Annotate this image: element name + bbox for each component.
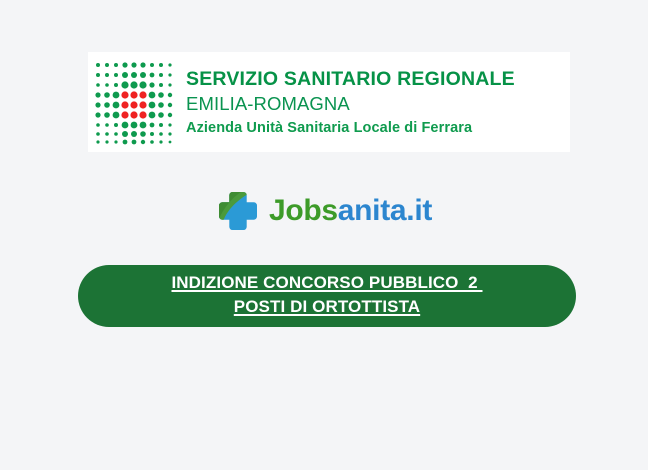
announcement-line-2: POSTI DI ORTOTTISTA: [234, 295, 420, 319]
announcement-line-1: INDIZIONE CONCORSO PUBBLICO 2: [171, 271, 482, 295]
brand-word-jobs: Jobs: [269, 194, 338, 227]
emilia-romagna-line: EMILIA-ROMAGNA: [186, 92, 515, 116]
institutional-header-logo: SERVIZIO SANITARIO REGIONALE EMILIA-ROMA…: [88, 52, 570, 152]
dot-grid-mark: [92, 59, 174, 145]
servizio-sanitario-regionale-line: SERVIZIO SANITARIO REGIONALE: [186, 67, 515, 92]
jobsanita-brand[interactable]: Jobsanita.it: [0, 186, 648, 236]
brand-word-anita: anita.it: [338, 194, 432, 227]
announcement-banner[interactable]: INDIZIONE CONCORSO PUBBLICO 2 POSTI DI O…: [78, 265, 576, 327]
institutional-header-text: SERVIZIO SANITARIO REGIONALE EMILIA-ROMA…: [186, 65, 515, 139]
medical-cross-icon: [216, 189, 260, 233]
jobsanita-wordmark: Jobsanita.it: [269, 196, 432, 226]
azienda-usl-ferrara-line: Azienda Unità Sanitaria Locale di Ferrar…: [186, 116, 515, 139]
